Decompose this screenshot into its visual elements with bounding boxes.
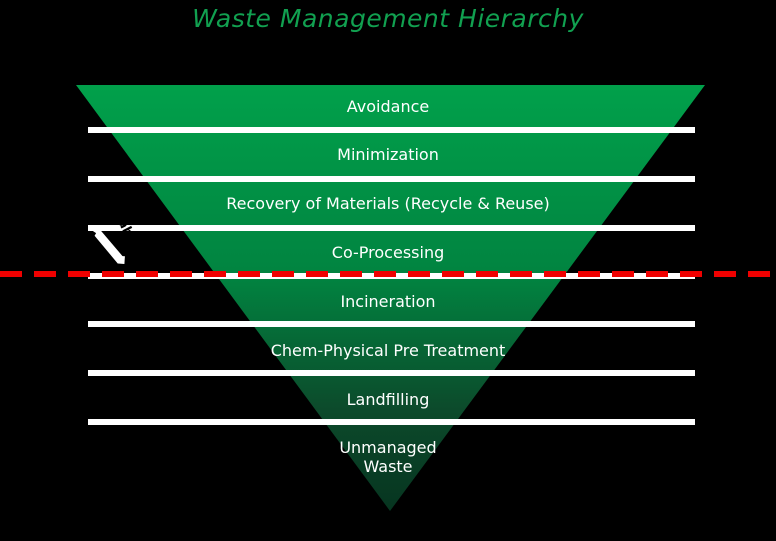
band-divider-3 bbox=[88, 225, 695, 231]
band-divider-7 bbox=[88, 419, 695, 425]
band-divider-5 bbox=[88, 321, 695, 327]
band-divider-2 bbox=[88, 176, 695, 182]
desirability-arrow bbox=[92, 176, 128, 316]
band-divider-6 bbox=[88, 370, 695, 376]
band-divider-1 bbox=[88, 127, 695, 133]
waste-hierarchy-diagram: Waste Management Hierarchy Avoidance Min… bbox=[0, 0, 776, 541]
